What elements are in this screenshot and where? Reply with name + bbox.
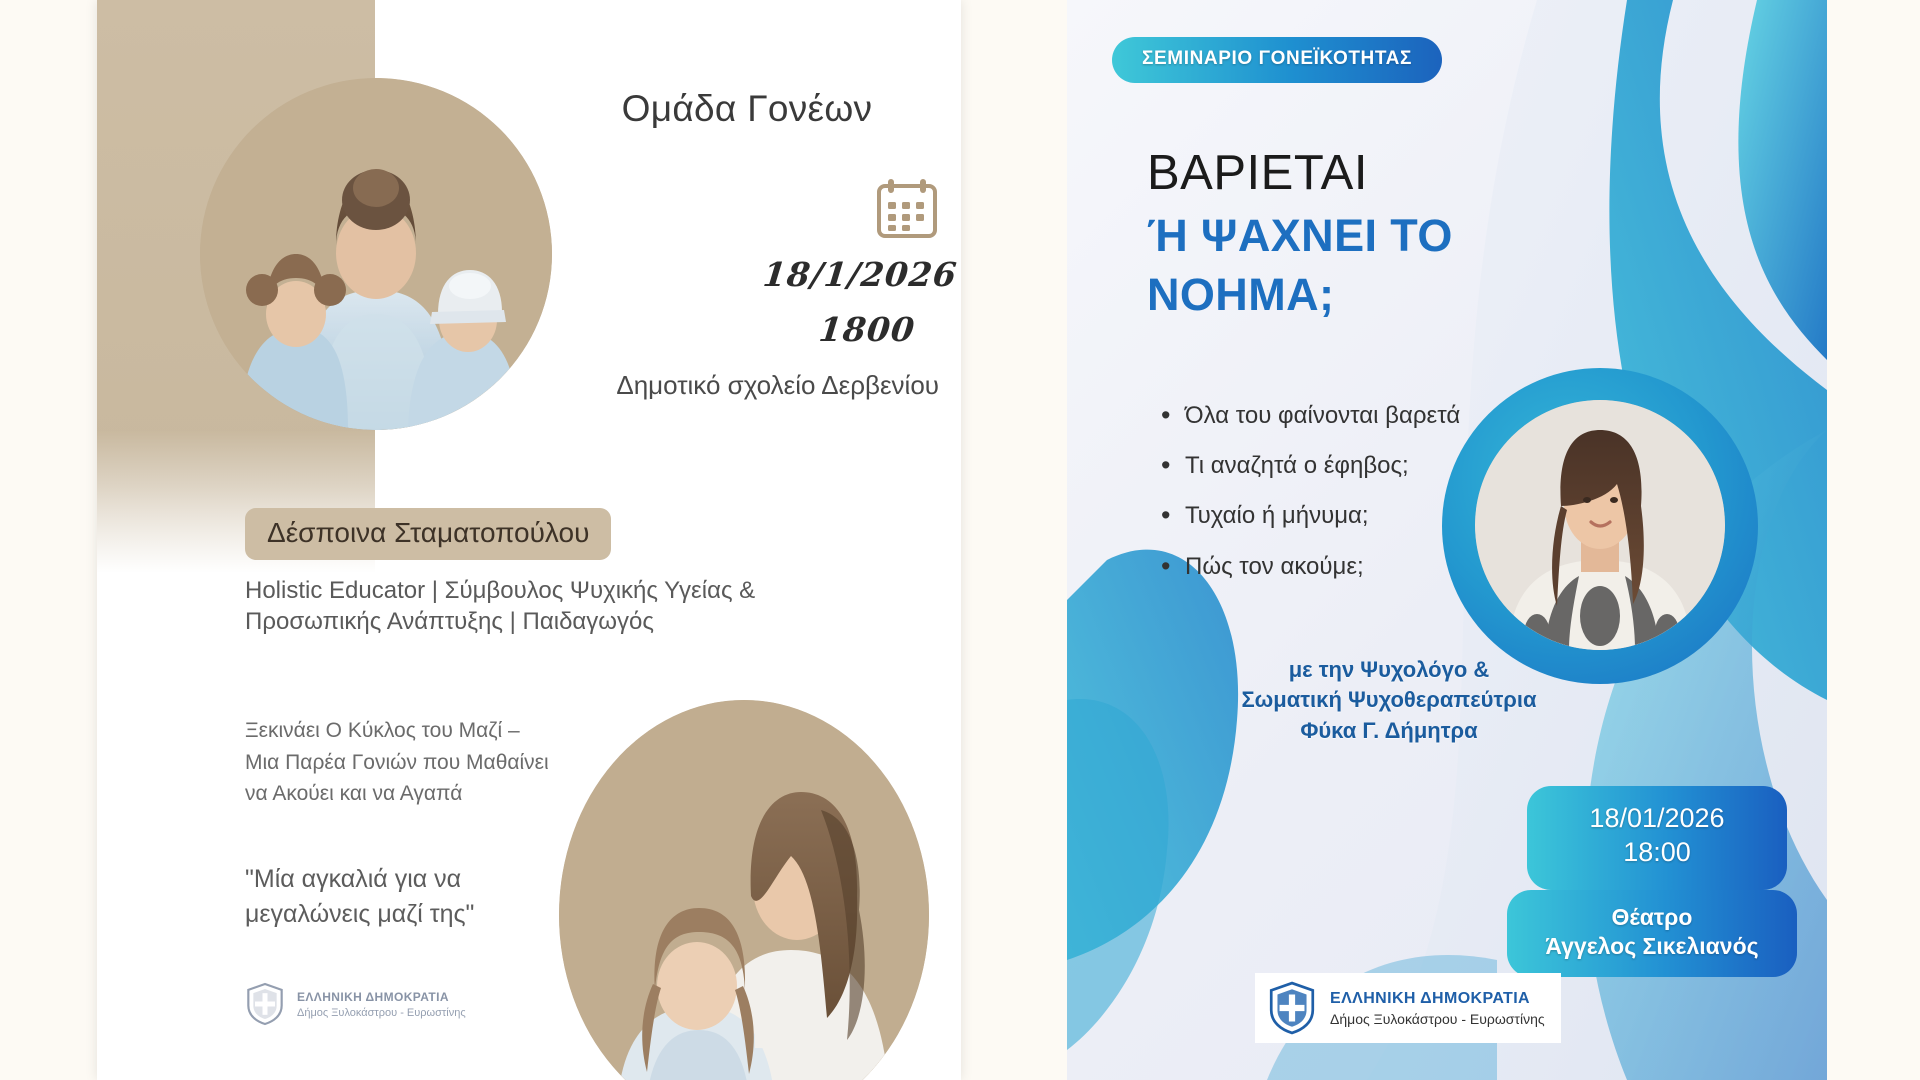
quote-line-2: μεγαλώνεις μαζί της" (245, 897, 575, 932)
left-poster-body-copy: Ξεκινάει Ο Κύκλος του Μαζί – Μια Παρέα Γ… (245, 715, 645, 810)
speaker-portrait-illustration (1475, 400, 1725, 650)
event-venue-pill: Θέατρο Άγγελος Σικελιανός (1507, 890, 1797, 977)
gov-name-line: ΕΛΛΗΝΙΚΗ ΔΗΜΟΚΡΑΤΙΑ (1330, 990, 1545, 1008)
event-datetime-pill: 18/01/2026 18:00 (1527, 786, 1787, 890)
speaker-name-badge: Δέσποινα Σταματοπούλου (245, 508, 611, 560)
presenter-line-1: με την Ψυχολόγο & (1179, 655, 1599, 685)
seminar-badge: ΣΕΜΙΝΑΡΙΟ ΓΟΝΕΪΚΟΤΗΤΑΣ (1112, 37, 1442, 83)
left-poster: Ομάδα Γονέων 18/1/2026 1800 Δ (97, 0, 961, 1080)
speaker-portrait-photo (1475, 400, 1725, 650)
calendar-icon (876, 178, 938, 238)
quote-line-1: "Μία αγκαλιά για να (245, 862, 575, 897)
speaker-credentials: Holistic Educator | Σύμβουλος Ψυχικής Υγ… (245, 576, 845, 637)
poster-pair-canvas: Ομάδα Γονέων 18/1/2026 1800 Δ (0, 0, 1920, 1080)
credentials-line-1: Holistic Educator | Σύμβουλος Ψυχικής Υγ… (245, 576, 845, 607)
greek-coat-of-arms-icon (1267, 981, 1317, 1035)
venue-line-2: Άγγελος Σικελιανός (1507, 932, 1797, 961)
left-poster-venue: Δημοτικό σχολείο Δερβενίου (527, 370, 957, 401)
gov-municipality-line: Δήμος Ξυλοκάστρου - Ευρωστίνης (1330, 1011, 1545, 1027)
presenter-line-3: Φύκα Γ. Δήμητρα (1179, 716, 1599, 746)
left-poster-time: 1800 (635, 310, 959, 349)
presenter-credit: με την Ψυχολόγο & Σωματική Ψυχοθεραπεύτρ… (1179, 655, 1599, 746)
headline-primary: ΒΑΡΙΕΤΑΙ (1147, 145, 1368, 201)
right-poster-gov-logo: ΕΛΛΗΝΙΚΗ ΔΗΜΟΚΡΑΤΙΑ Δήμος Ξυλοκάστρου - … (1255, 973, 1561, 1043)
left-poster-title: Ομάδα Γονέων (567, 88, 927, 130)
body-line-1: Ξεκινάει Ο Κύκλος του Μαζί – (245, 715, 645, 747)
parent-with-children-photo (200, 78, 552, 430)
left-poster-gov-logo: ΕΛΛΗΝΙΚΗ ΔΗΜΟΚΡΑΤΙΑ Δήμος Ξυλοκάστρου - … (245, 982, 466, 1026)
event-time: 18:00 (1527, 836, 1787, 870)
left-poster-quote: "Μία αγκαλιά για να μεγαλώνεις μαζί της" (245, 862, 575, 932)
headline-secondary: Ή ΨΑΧΝΕΙ ΤΟ ΝΟΗΜΑ; (1147, 207, 1567, 324)
left-poster-date: 18/1/2026 (635, 255, 959, 294)
venue-line-1: Θέατρο (1507, 903, 1797, 932)
right-poster: ΣΕΜΙΝΑΡΙΟ ΓΟΝΕΪΚΟΤΗΤΑΣ ΒΑΡΙΕΤΑΙ Ή ΨΑΧΝΕΙ… (1067, 0, 1827, 1080)
event-date: 18/01/2026 (1527, 802, 1787, 836)
gov-name-line: ΕΛΛΗΝΙΚΗ ΔΗΜΟΚΡΑΤΙΑ (297, 990, 466, 1004)
credentials-line-2: Προσωπικής Ανάπτυξης | Παιδαγωγός (245, 607, 845, 638)
gov-municipality-line: Δήμος Ξυλοκάστρου - Ευρωστίνης (297, 1007, 466, 1019)
presenter-line-2: Σωματική Ψυχοθεραπεύτρια (1179, 685, 1599, 715)
parent-with-children-illustration (200, 78, 552, 430)
greek-coat-of-arms-icon (245, 982, 285, 1026)
body-line-2: Μια Παρέα Γονιών που Μαθαίνει (245, 747, 645, 779)
